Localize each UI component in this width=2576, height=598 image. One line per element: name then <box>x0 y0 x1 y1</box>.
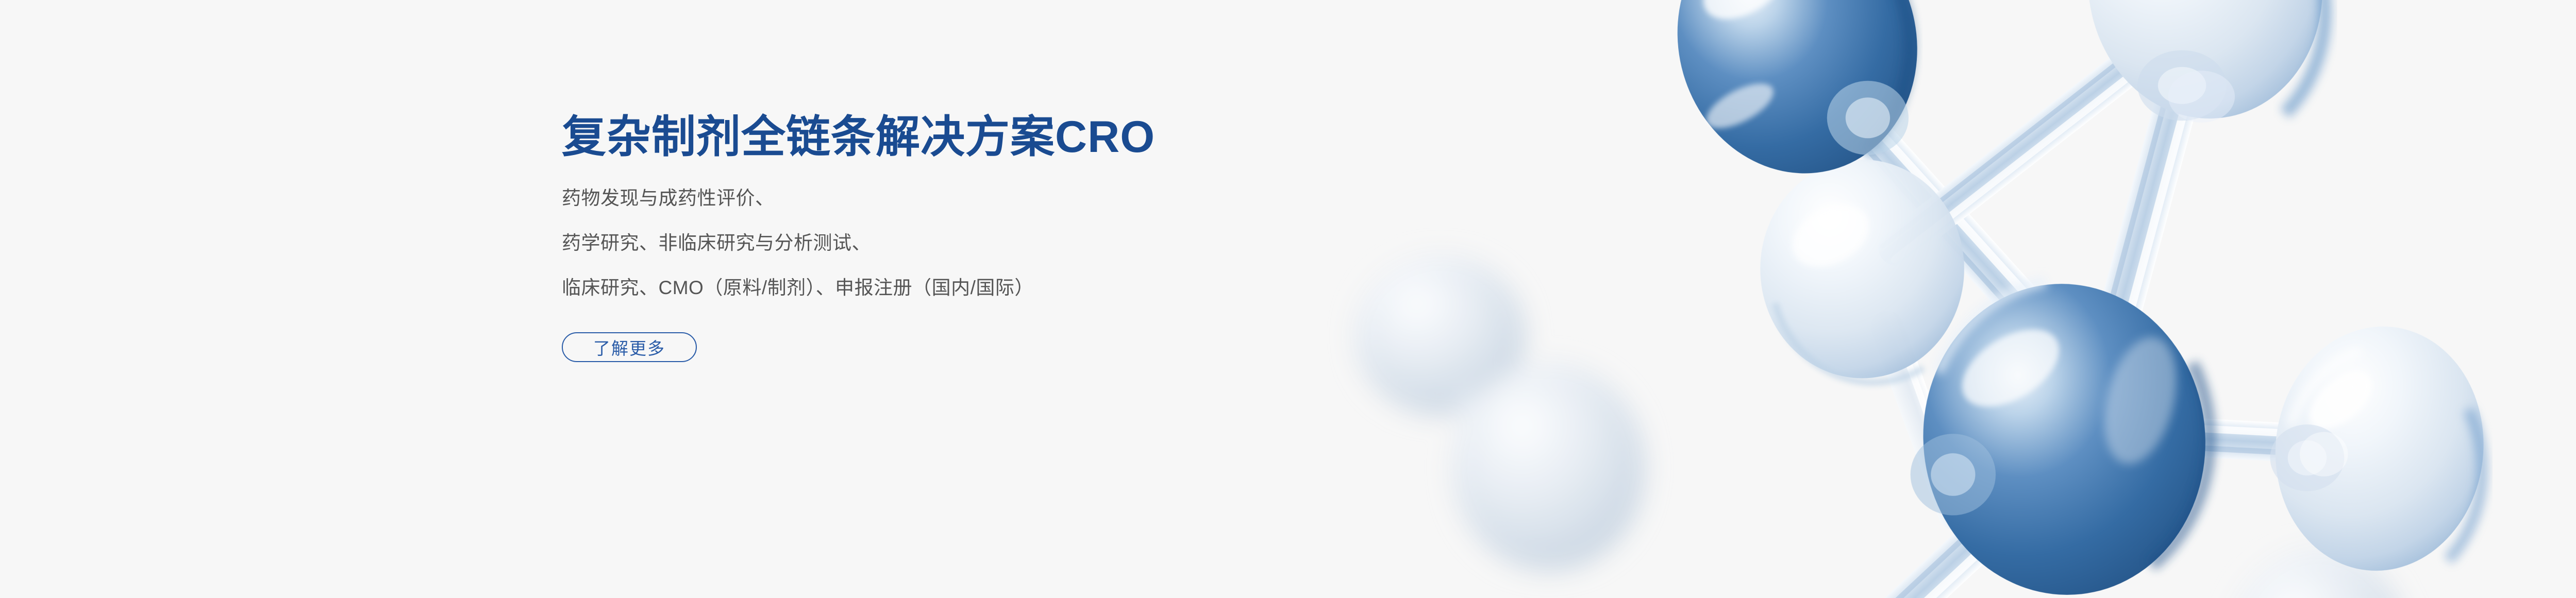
atom-top-left-blue <box>1647 0 1948 202</box>
subtitle-line-3: 临床研究、CMO（原料/制剂）、申报注册（国内/国际） <box>562 278 1386 297</box>
bond-group <box>1703 16 2345 598</box>
page-title: 复杂制剂全链条解决方案CRO <box>562 112 1386 162</box>
atom-top-right-pale <box>2071 0 2339 134</box>
atom-right-pale <box>2264 316 2496 581</box>
blurred-atom-group <box>1355 256 2411 598</box>
subtitle-list: 药物发现与成药性评价、 药学研究、非临床研究与分析测试、 临床研究、CMO（原料… <box>562 189 1386 297</box>
subtitle-line-1: 药物发现与成药性评价、 <box>562 189 1386 208</box>
subtitle-line-2: 药学研究、非临床研究与分析测试、 <box>562 233 1386 252</box>
hero-banner: 复杂制剂全链条解决方案CRO 药物发现与成药性评价、 药学研究、非临床研究与分析… <box>0 0 2576 598</box>
bond-joint-group <box>2168 71 2348 476</box>
hero-copy: 复杂制剂全链条解决方案CRO 药物发现与成药性评价、 药学研究、非临床研究与分析… <box>562 112 1386 362</box>
atom-center-blue <box>1908 270 2221 598</box>
glass-molecule-illustration <box>1278 0 2576 598</box>
atom-bottom-blue <box>1554 591 1873 598</box>
learn-more-button[interactable]: 了解更多 <box>562 332 697 362</box>
atom-mid-pale <box>1760 160 1964 382</box>
